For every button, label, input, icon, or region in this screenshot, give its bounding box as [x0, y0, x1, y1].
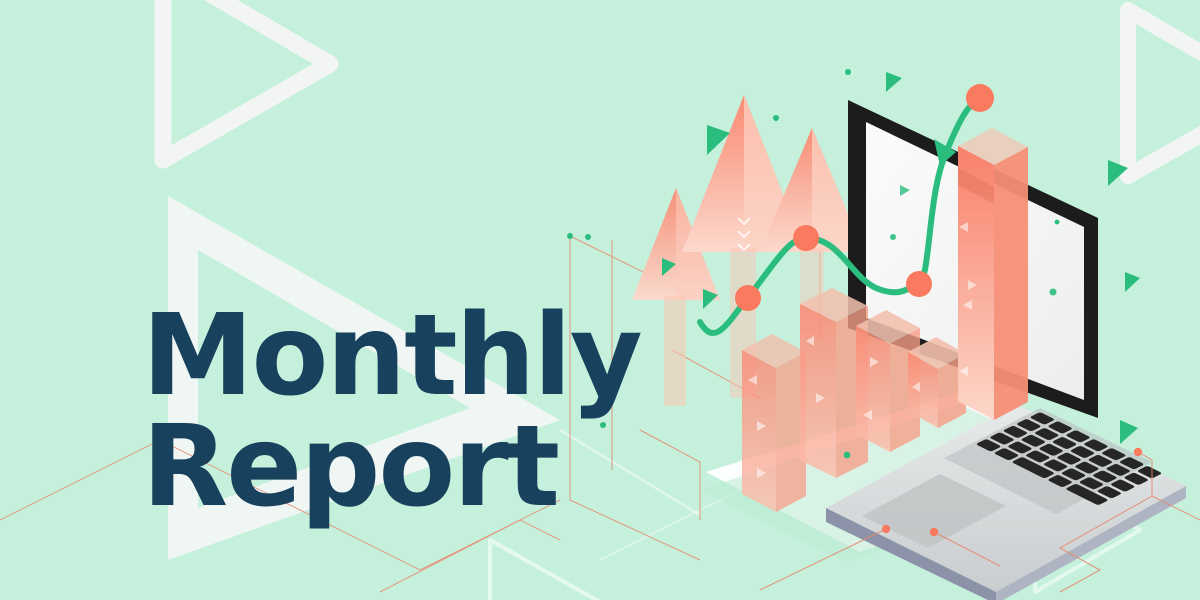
page-title: Monthly Report [142, 305, 641, 519]
cone-left-stem [664, 296, 686, 406]
title-line-2: Report [142, 416, 641, 519]
bar-4 [908, 337, 966, 428]
screen-glyph-dot-2 [1050, 289, 1057, 296]
bar-5 [958, 128, 1028, 420]
node-4 [966, 84, 994, 112]
node-1 [735, 285, 761, 311]
node-3 [906, 271, 932, 297]
node-2 [793, 225, 819, 251]
banner-canvas: Monthly Report [0, 0, 1200, 600]
bar-1 [742, 334, 806, 512]
screen-glyph-dot-1 [890, 234, 896, 240]
title-line-1: Monthly [142, 305, 641, 408]
